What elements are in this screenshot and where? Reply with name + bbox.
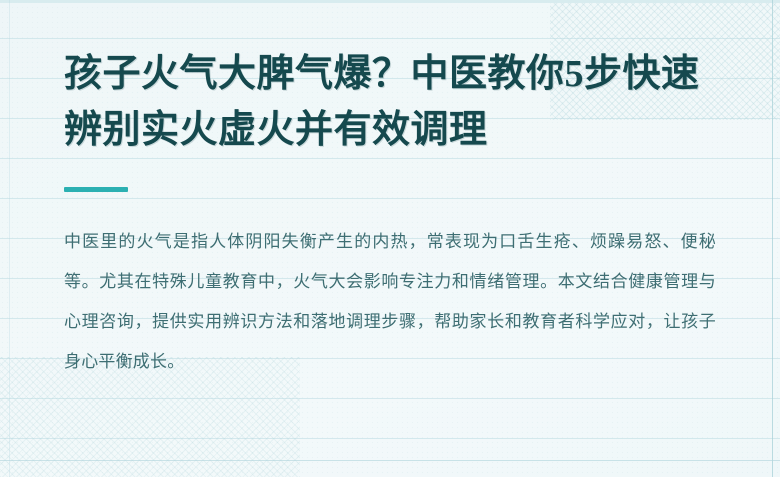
article-summary: 中医里的火气是指人体阴阳失衡产生的内热，常表现为口舌生疮、烦躁易怒、便秘等。尤其… <box>64 222 716 382</box>
article-title: 孩子火气大脾气爆？中医教你5步快速辨别实火虚火并有效调理 <box>64 46 724 158</box>
left-vertical-rule <box>9 0 10 477</box>
title-accent-divider <box>64 187 128 192</box>
right-vertical-rule <box>772 0 773 477</box>
article-cover-banner: 孩子火气大脾气爆？中医教你5步快速辨别实火虚火并有效调理 中医里的火气是指人体阴… <box>0 0 780 477</box>
cover-content: 孩子火气大脾气爆？中医教你5步快速辨别实火虚火并有效调理 中医里的火气是指人体阴… <box>64 46 730 382</box>
bottom-horizontal-rule <box>0 460 780 461</box>
top-accent-band <box>0 0 780 3</box>
